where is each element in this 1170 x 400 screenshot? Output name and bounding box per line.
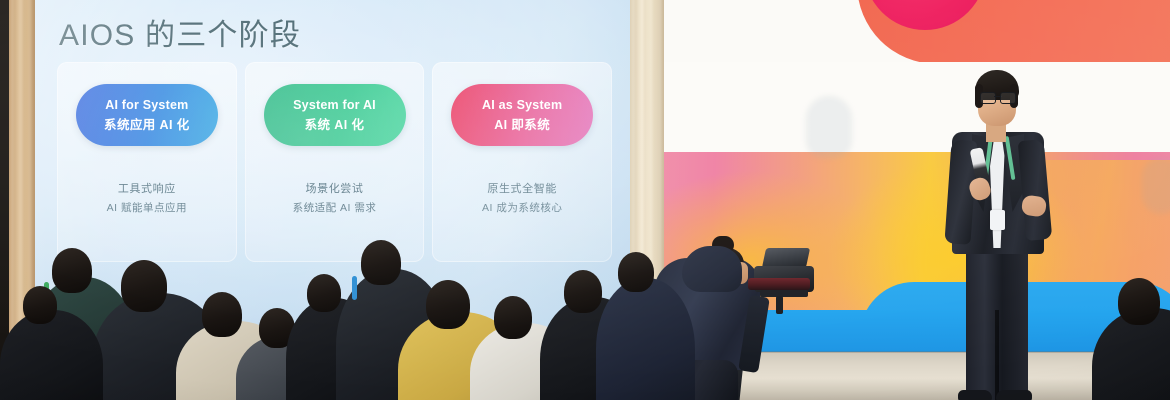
caption-line-1: 场景化尝试: [293, 180, 377, 199]
backdrop-white-band: [664, 62, 1170, 152]
caption-line-1: 工具式响应: [107, 180, 187, 199]
audience-member-head: [307, 274, 341, 312]
pill-ai-for-system: AI for System 系统应用 AI 化: [76, 84, 218, 146]
audience-member-head: [494, 296, 532, 339]
pill-label-cn: AI 即系统: [494, 118, 550, 133]
card-caption: 工具式响应 AI 赋能单点应用: [107, 180, 187, 218]
audience-silhouettes: [0, 230, 1170, 400]
card-caption: 场景化尝试 系统适配 AI 需求: [293, 180, 377, 218]
conference-photo: AIOS 的三个阶段 AI for System 系统应用 AI 化 工具式响应…: [0, 0, 1170, 400]
glasses-icon: [980, 92, 1016, 103]
audience-member-body: [0, 310, 103, 400]
slide-title: AIOS 的三个阶段: [59, 10, 301, 54]
pill-label-en: System for AI: [293, 98, 376, 113]
pill-label-cn: 系统应用 AI 化: [104, 118, 190, 133]
caption-line-2: 系统适配 AI 需求: [293, 199, 377, 217]
pill-label-cn: 系统 AI 化: [305, 118, 365, 133]
audience-lanyard: [352, 276, 357, 300]
audience-member-body: [596, 278, 695, 400]
audience-member-head: [426, 280, 470, 329]
card-caption: 原生式全智能 AI 成为系统核心: [482, 180, 562, 218]
audience-member-head: [121, 260, 167, 312]
audience-member-head: [618, 252, 654, 292]
pill-ai-as-system: AI as System AI 即系统: [451, 84, 593, 146]
audience-member-head: [23, 286, 57, 324]
glasses-bridge: [994, 96, 1002, 97]
audience-member-head: [361, 240, 401, 285]
audience-member-head: [564, 270, 602, 313]
pill-system-for-ai: System for AI 系统 AI 化: [264, 84, 406, 146]
audience-member-head: [52, 248, 92, 293]
pill-label-en: AI as System: [482, 98, 562, 113]
caption-line-2: AI 成为系统核心: [482, 199, 562, 217]
pill-label-en: AI for System: [105, 98, 188, 113]
backdrop-reflection-b: [1142, 158, 1170, 214]
speaker-badge: [990, 210, 1005, 230]
caption-line-1: 原生式全智能: [482, 180, 562, 199]
audience-member-head: [202, 292, 242, 337]
caption-line-2: AI 赋能单点应用: [107, 199, 187, 217]
audience-member-head: [1118, 278, 1160, 325]
backdrop-reflection-a: [806, 96, 852, 158]
